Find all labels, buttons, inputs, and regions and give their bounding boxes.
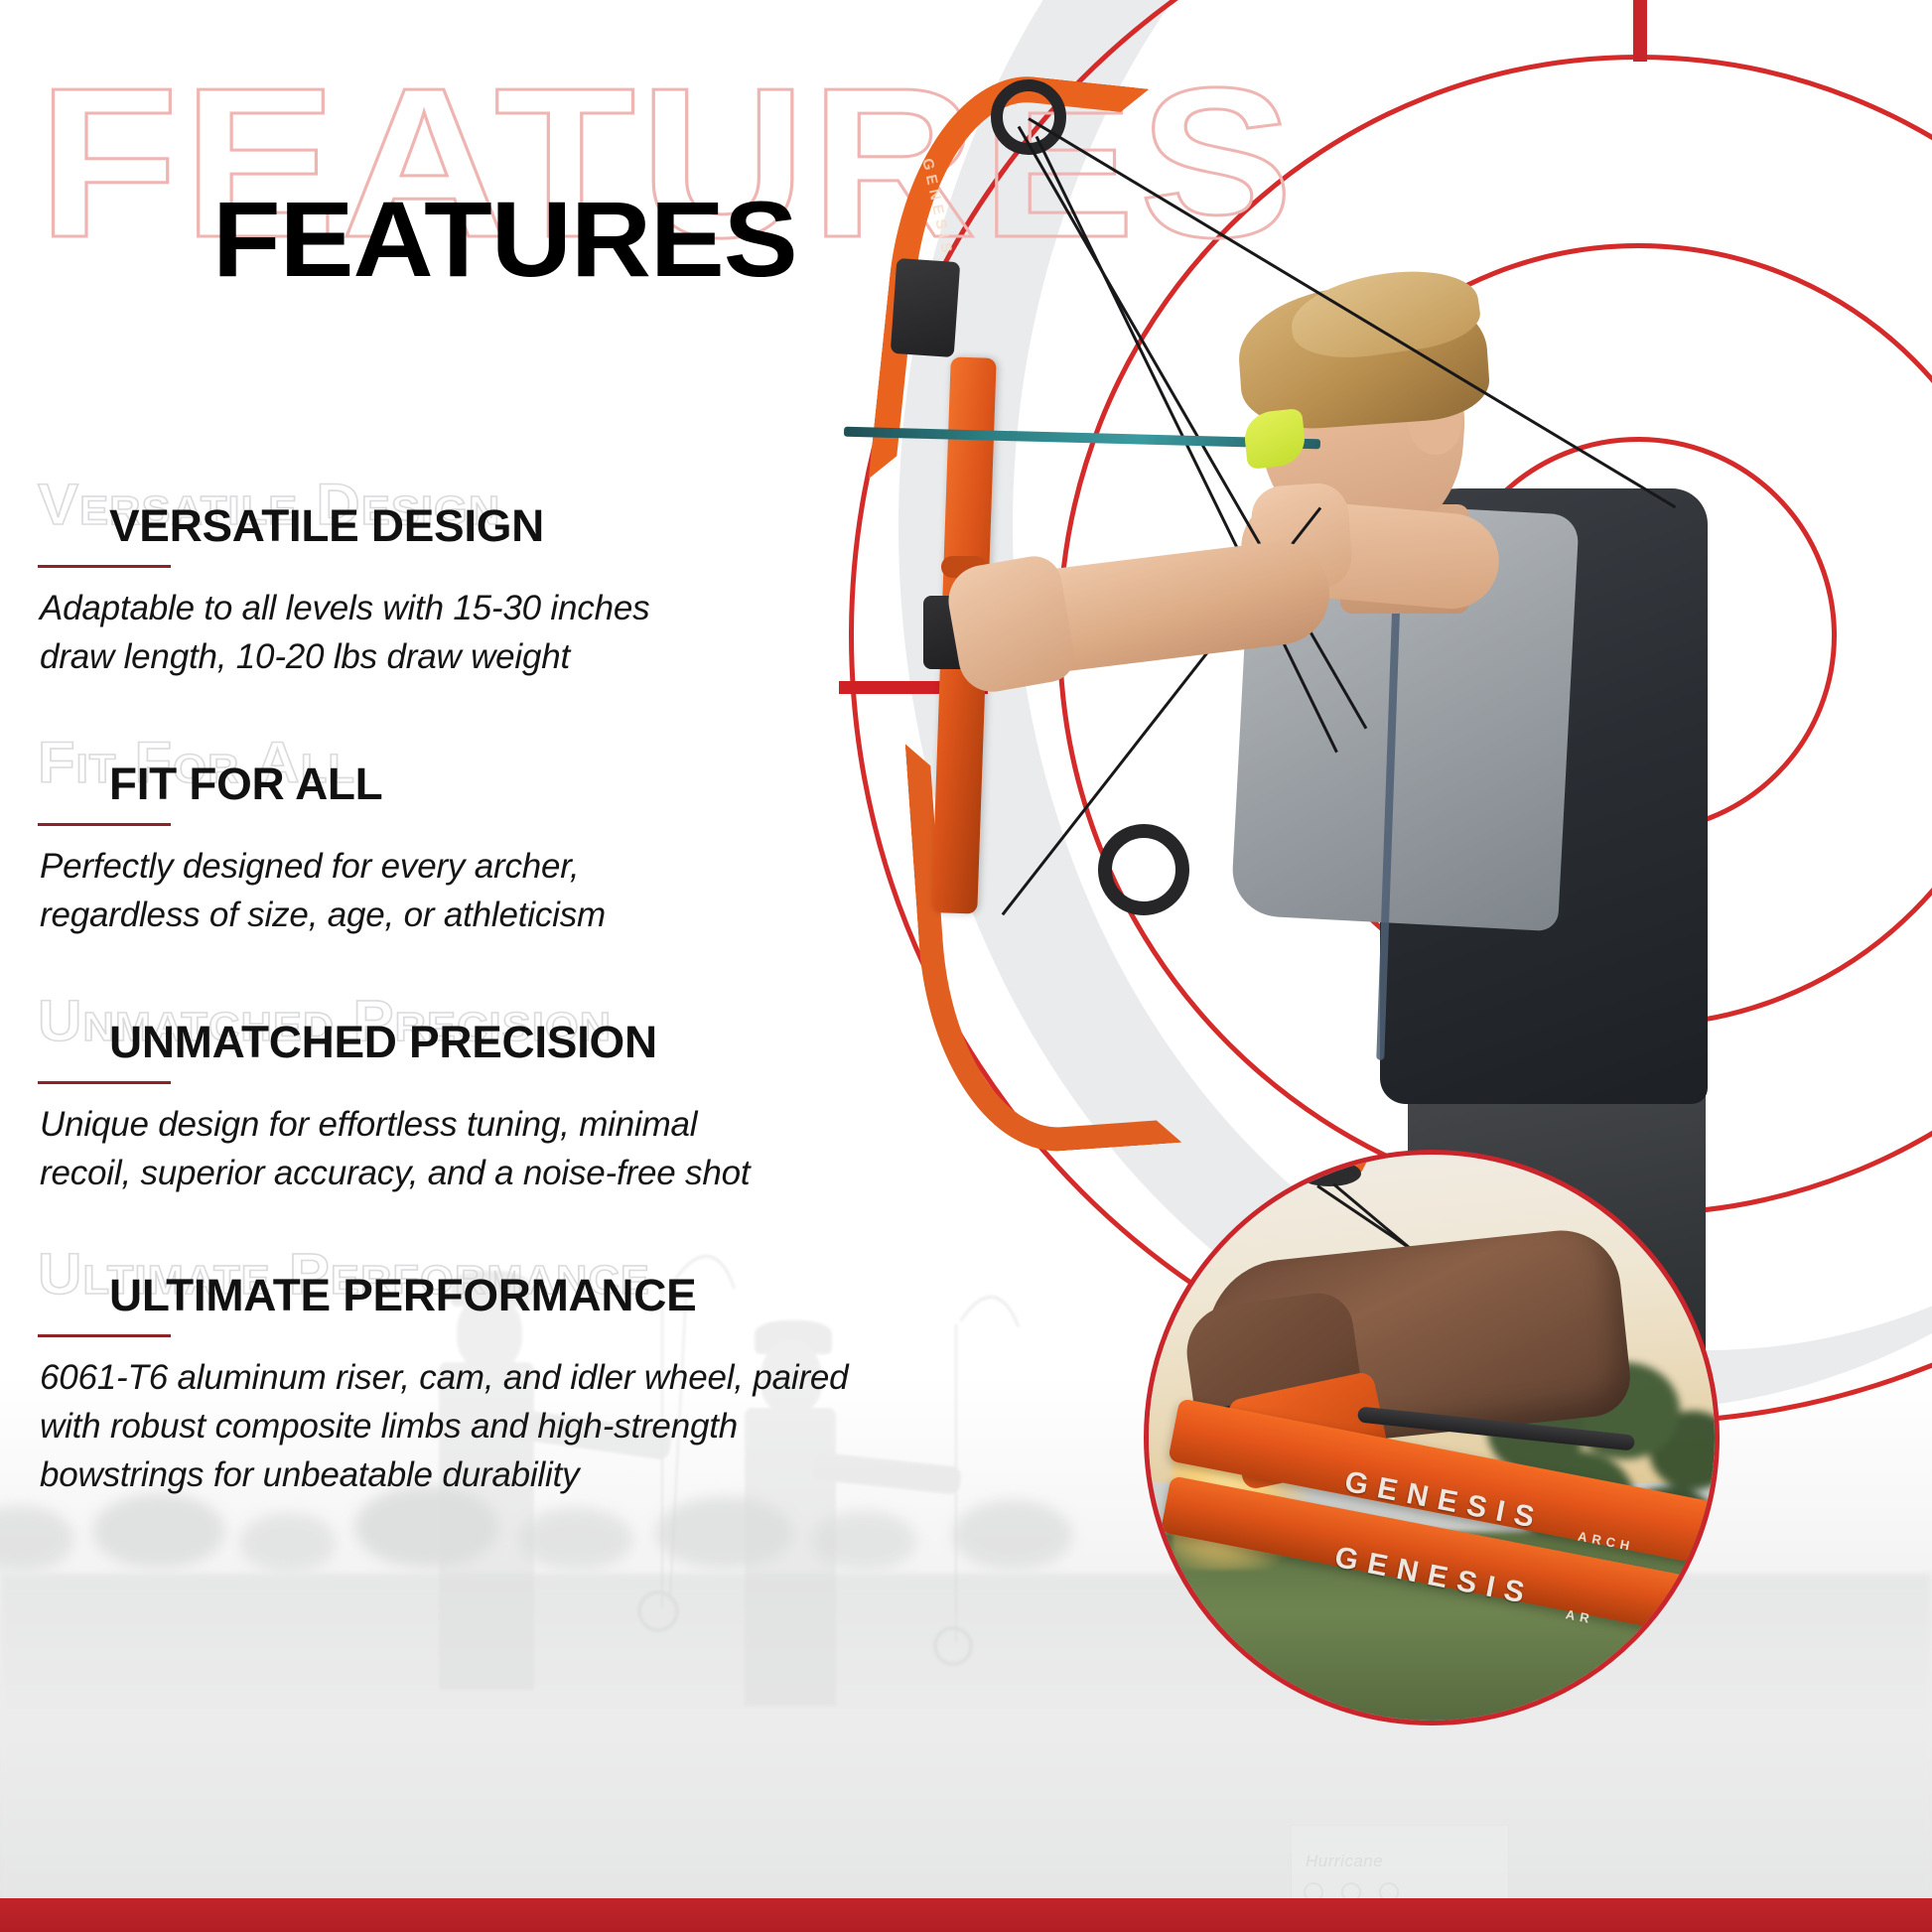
feature-heading: ULTIMATE PERFORMANCE [109,1273,696,1317]
feature-description: Unique design for effortless tuning, min… [40,1100,794,1197]
target-bag-label: Hurricane [1306,1852,1383,1871]
inset-bow-cam [1298,1161,1361,1186]
feature-underline-rule [38,1334,171,1337]
feature-description: 6061-T6 aluminum riser, cam, and idler w… [40,1353,894,1499]
archer-bow-hand [943,552,1078,697]
footer-accent-bar [0,1898,1932,1932]
infographic-canvas: Hurricane GENESIS [0,0,1932,1932]
feature-heading: VERSATILE DESIGN [109,503,544,548]
inset-photo: GENESIS ARCH GENESIS AR [1149,1155,1715,1721]
feature-heading: UNMATCHED PRECISION [109,1020,657,1064]
page-title: FEATURES [212,177,797,301]
feature-heading: FIT FOR ALL [109,761,382,806]
feature-underline-rule [38,1081,171,1084]
feature-description: Adaptable to all levels with 15-30 inche… [40,584,655,681]
feature-underline-rule [38,565,171,568]
product-detail-inset: GENESIS ARCH GENESIS AR [1144,1150,1720,1725]
feature-description: Perfectly designed for every archer, reg… [40,842,735,939]
bow-sight [891,258,961,357]
feature-underline-rule [38,823,171,826]
bow-cam-wheel [1098,824,1189,915]
